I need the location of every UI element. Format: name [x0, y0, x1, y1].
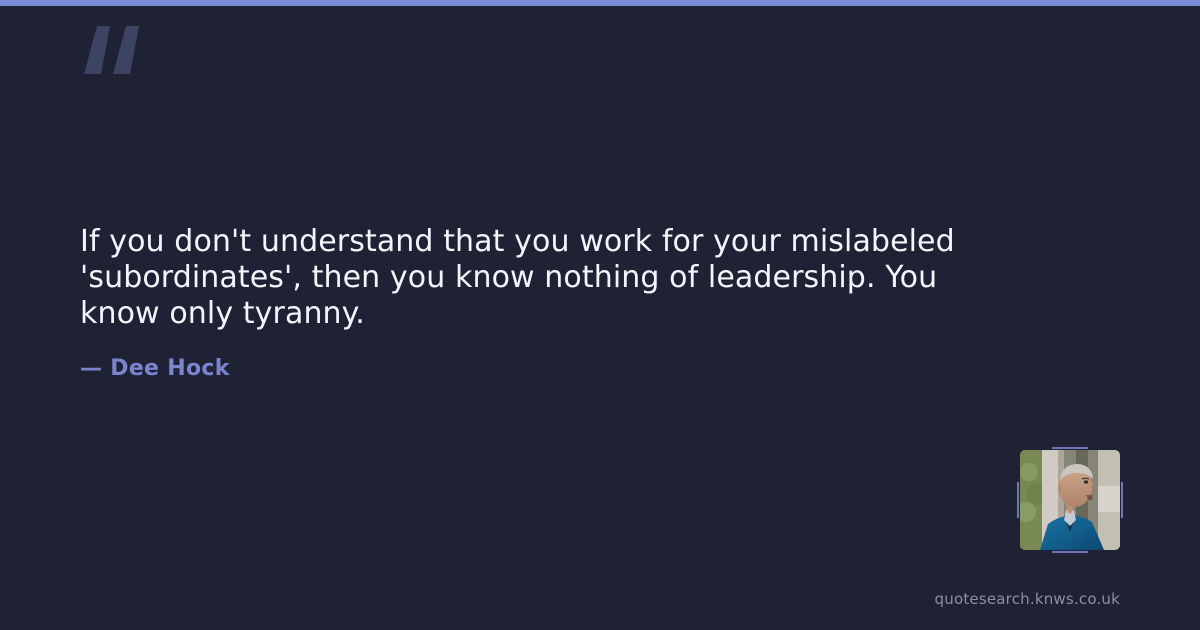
attribution-author: Dee Hock [110, 356, 229, 381]
attribution-dash: — [80, 356, 110, 381]
portrait-tick-right [1121, 482, 1123, 518]
portrait-tick-bottom [1052, 551, 1088, 553]
open-quote-icon [80, 22, 150, 92]
portrait-tick-top [1052, 447, 1088, 449]
author-portrait [1020, 450, 1120, 550]
quote-attribution: — Dee Hock [80, 356, 230, 381]
quote-text: If you don't understand that you work fo… [80, 224, 960, 332]
source-watermark: quotesearch.knws.co.uk [935, 590, 1120, 608]
portrait-tick-left [1017, 482, 1019, 518]
top-accent-bar [0, 0, 1200, 6]
author-portrait-image [1020, 450, 1120, 550]
quote-card: If you don't understand that you work fo… [0, 0, 1200, 630]
